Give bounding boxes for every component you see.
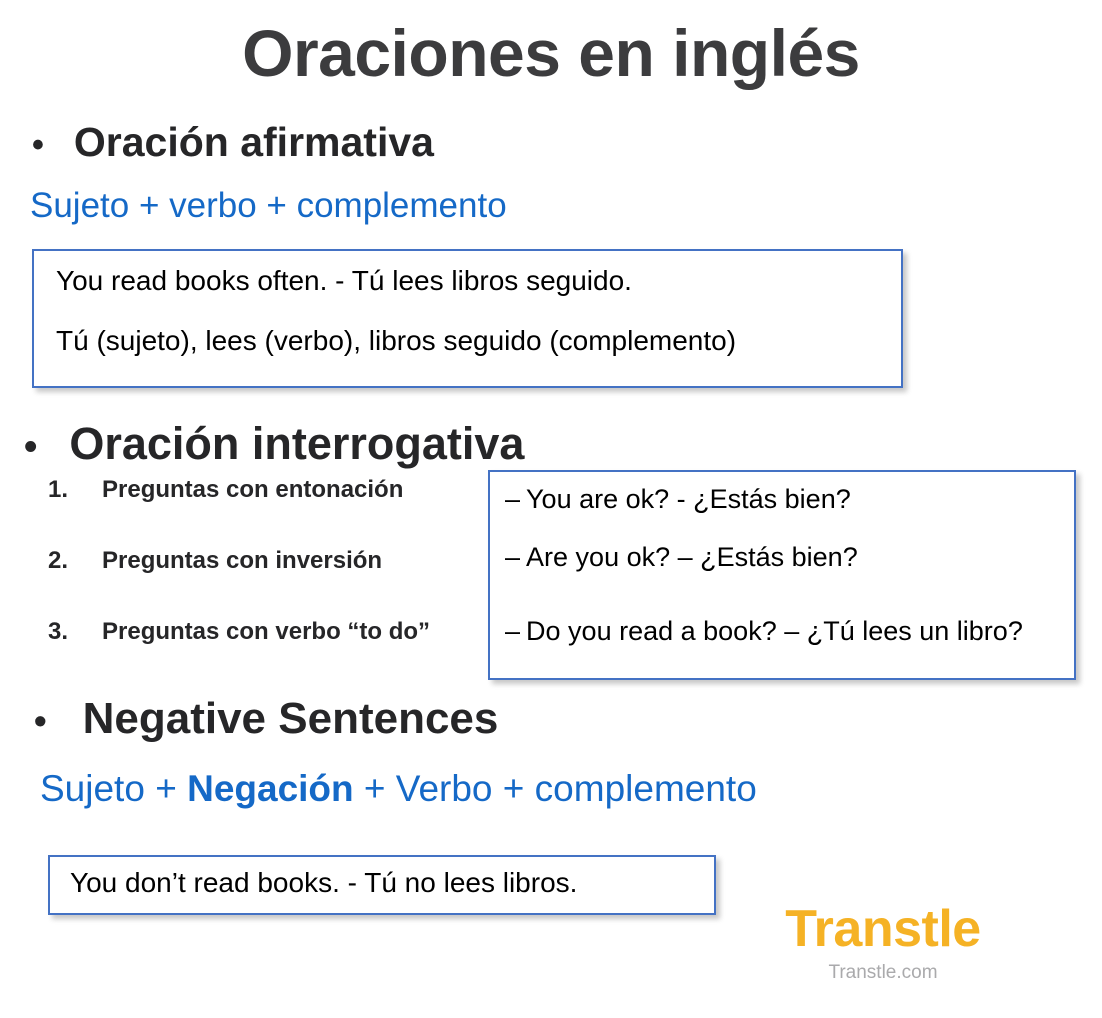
- example-line-text: Are you ok? – ¿Estás bien?: [526, 542, 858, 572]
- bullet-dot-icon: •: [24, 428, 37, 466]
- example-line: Tú (sujeto), lees (verbo), libros seguid…: [56, 327, 901, 355]
- list-item-label: Preguntas con inversión: [102, 547, 382, 575]
- formula-negative-part2: + Verbo + complemento: [354, 768, 757, 809]
- example-line-text: Do you read a book? – ¿Tú lees un libro?: [526, 616, 1023, 646]
- example-box-interrogative: –You are ok? - ¿Estás bien? –Are you ok?…: [488, 470, 1076, 680]
- example-box-affirmative: You read books often. - Tú lees libros s…: [32, 249, 903, 388]
- formula-negative: Sujeto + Negación + Verbo + complemento: [40, 768, 757, 810]
- example-line: –Do you read a book? – ¿Tú lees un libro…: [505, 618, 1074, 645]
- section-heading-affirmative: • Oración afirmativa: [32, 119, 434, 166]
- list-item-number: 2.: [48, 547, 102, 575]
- example-line-text: You are ok? - ¿Estás bien?: [526, 484, 851, 514]
- en-dash-icon: –: [505, 616, 520, 646]
- section-heading-affirmative-label: Oración afirmativa: [74, 119, 434, 166]
- bullet-dot-icon: •: [34, 703, 47, 739]
- page-title: Oraciones en inglés: [0, 20, 1102, 86]
- brand-logo-wordmark: Transtle: [758, 903, 1008, 955]
- list-item: 2. Preguntas con inversión: [48, 547, 488, 618]
- en-dash-icon: –: [505, 484, 520, 514]
- interrogative-numbered-list: 1. Preguntas con entonación 2. Preguntas…: [48, 476, 488, 689]
- brand-logo-domain: Transtle.com: [758, 963, 1008, 982]
- example-line: –You are ok? - ¿Estás bien?: [505, 486, 1074, 513]
- bullet-dot-icon: •: [32, 128, 44, 162]
- brand-logo: Transtle Transtle.com: [758, 903, 1008, 982]
- section-heading-interrogative: • Oración interrogativa: [24, 418, 524, 470]
- example-line: You don’t read books. - Tú no lees libro…: [70, 869, 714, 897]
- list-item: 1. Preguntas con entonación: [48, 476, 488, 547]
- list-item-label: Preguntas con entonación: [102, 476, 403, 504]
- list-item-label: Preguntas con verbo “to do”: [102, 618, 430, 646]
- section-heading-negative-label: Negative Sentences: [83, 694, 499, 744]
- formula-affirmative: Sujeto + verbo + complemento: [30, 186, 507, 226]
- example-box-negative: You don’t read books. - Tú no lees libro…: [48, 855, 716, 915]
- en-dash-icon: –: [505, 542, 520, 572]
- list-item-number: 1.: [48, 476, 102, 504]
- list-item-number: 3.: [48, 618, 102, 646]
- slide-canvas: Oraciones en inglés • Oración afirmativa…: [0, 0, 1102, 1018]
- formula-negative-part1: Sujeto +: [40, 768, 187, 809]
- section-heading-interrogative-label: Oración interrogativa: [69, 418, 524, 470]
- example-line: –Are you ok? – ¿Estás bien?: [505, 544, 1074, 571]
- section-heading-negative: • Negative Sentences: [34, 694, 498, 744]
- example-line: You read books often. - Tú lees libros s…: [56, 267, 901, 295]
- list-item: 3. Preguntas con verbo “to do”: [48, 618, 488, 689]
- formula-negative-emphasis: Negación: [187, 768, 354, 809]
